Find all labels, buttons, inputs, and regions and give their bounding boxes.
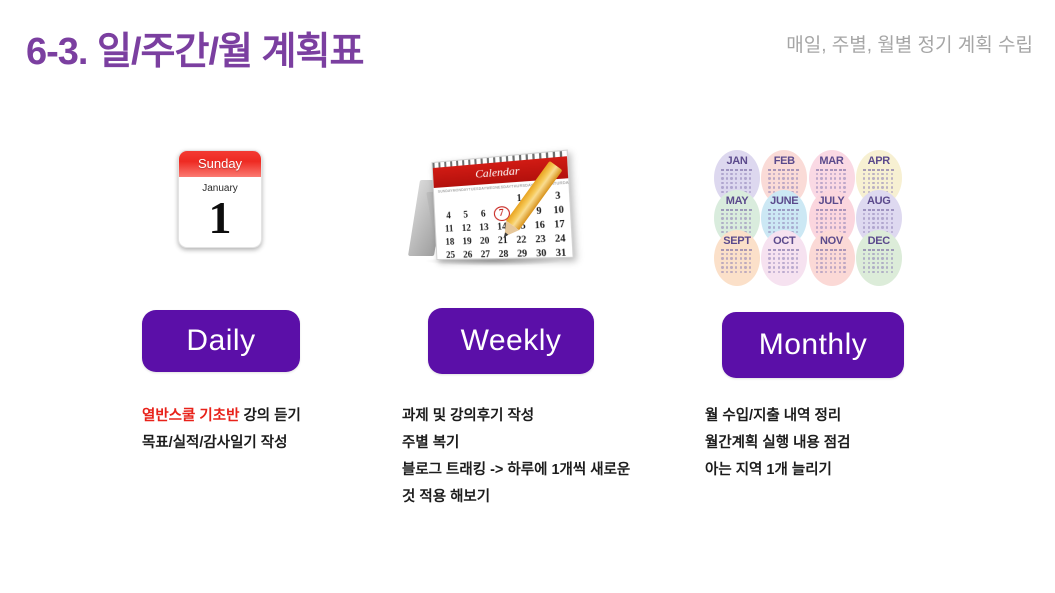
desk-calendar-date: 23: [531, 233, 551, 245]
desk-calendar-dow: WEDNESDAY: [486, 185, 511, 191]
month-circle-label: JUNE: [770, 195, 798, 207]
desk-calendar-date: 11: [440, 223, 458, 235]
monthly-task-list: 월 수입/지출 내역 정리 월간계획 실행 내용 점검 아는 지역 1개 늘리기: [705, 403, 851, 484]
month-circle-label: DEC: [868, 235, 890, 247]
month-circle-label: FEB: [774, 155, 795, 167]
month-circle-label: JULY: [819, 195, 845, 207]
desk-calendar-date: 17: [549, 218, 570, 231]
desk-calendar-date: 6: [474, 208, 492, 220]
month-circle-label: APR: [868, 155, 890, 167]
desk-calendar-date: 18: [441, 236, 459, 248]
desk-calendar-with-pencil-icon: Calendar SUNDAYMONDAYTUESDAYWEDNESDAYTHU…: [408, 152, 578, 272]
pill-monthly[interactable]: Monthly: [722, 312, 904, 378]
month-circle-dow-row: [863, 209, 895, 211]
desk-calendar-date-blank: [491, 193, 510, 206]
list-item: 것 적용 해보기: [402, 484, 630, 511]
column-weekly: Calendar SUNDAYMONDAYTUESDAYWEDNESDAYTHU…: [398, 150, 663, 280]
desk-calendar-date: 24: [550, 232, 571, 245]
desk-calendar-date: 29: [512, 248, 532, 260]
desk-calendar-date: 4: [440, 210, 457, 222]
plan-columns: Sunday January 1 Daily 열반스쿨 기초반 강의 듣기 목표…: [0, 150, 1055, 570]
column-daily: Sunday January 1 Daily 열반스쿨 기초반 강의 듣기 목표…: [110, 150, 340, 280]
desk-calendar-date: 16: [530, 219, 550, 232]
desk-calendar-date: 26: [459, 249, 477, 260]
monthly-icon-area: JANFEBMARAPRMAYJUNEJULYAUGSEPTOCTNOVDEC: [700, 150, 950, 280]
month-circle-dow-row: [721, 169, 753, 171]
daily-calendar-day-number: 1: [179, 195, 261, 241]
month-circle-dow-row: [863, 249, 895, 251]
list-item: 월 수입/지출 내역 정리: [705, 403, 851, 430]
list-item: 열반스쿨 기초반 강의 듣기: [142, 403, 301, 430]
month-circle-label: OCT: [773, 235, 795, 247]
desk-calendar-date: 10: [548, 204, 569, 217]
month-circle-dow-row: [768, 249, 800, 251]
month-circle-label: MAY: [726, 195, 749, 207]
list-item: 블로그 트래킹 -> 하루에 1개씩 새로운: [402, 457, 630, 484]
daily-calendar-weekday: Sunday: [179, 151, 261, 177]
desk-calendar-date: 19: [458, 236, 476, 248]
month-circle: DEC: [856, 230, 902, 286]
desk-calendar-date-blank: [473, 194, 491, 206]
desk-calendar-dow: MONDAY: [453, 188, 469, 193]
month-circle-label: JAN: [726, 155, 747, 167]
pill-weekly[interactable]: Weekly: [428, 308, 594, 374]
list-item: 과제 및 강의후기 작성: [402, 403, 630, 430]
column-monthly: JANFEBMARAPRMAYJUNEJULYAUGSEPTOCTNOVDEC …: [700, 150, 950, 280]
weekly-icon-area: Calendar SUNDAYMONDAYTUESDAYWEDNESDAYTHU…: [398, 150, 663, 280]
desk-calendar-date: 30: [531, 247, 551, 259]
desk-calendar-date-blank: [456, 195, 474, 207]
daily-line1-highlight: 열반스쿨 기초반: [142, 408, 239, 424]
month-circle-date-dots: [721, 253, 753, 275]
month-circle: NOV: [809, 230, 855, 286]
month-circle: OCT: [761, 230, 807, 286]
month-circle-date-dots: [863, 253, 895, 275]
weekly-task-list: 과제 및 강의후기 작성 주별 복기 블로그 트래킹 -> 하루에 1개씩 새로…: [402, 403, 630, 511]
month-circle-dow-row: [721, 249, 753, 251]
slide-header: 6-3. 일/주간/월 계획표 매일, 주별, 월별 정기 계획 수립: [0, 0, 1055, 90]
list-item: 아는 지역 1개 늘리기: [705, 457, 851, 484]
desk-calendar-date: 5: [457, 209, 475, 221]
month-circle-dow-row: [768, 209, 800, 211]
month-circle-dow-row: [816, 209, 848, 211]
daily-icon-area: Sunday January 1: [110, 150, 340, 280]
month-circle-dow-row: [863, 169, 895, 171]
month-circle-label: AUG: [867, 195, 891, 207]
pill-daily[interactable]: Daily: [142, 310, 300, 372]
month-circle-date-dots: [768, 253, 800, 275]
desk-calendar-date: 12: [457, 222, 475, 234]
list-item: 월간계획 실행 내용 점검: [705, 430, 851, 457]
month-circle-label: SEPT: [723, 235, 751, 247]
list-item: 주별 복기: [402, 430, 630, 457]
desk-calendar-dow: TUESDAY: [469, 186, 487, 191]
desk-calendar-date: 13: [475, 221, 493, 233]
daily-line1-rest: 강의 듣기: [239, 408, 300, 424]
month-circle: SEPT: [714, 230, 760, 286]
month-circle-dow-row: [721, 209, 753, 211]
desk-calendar-date: 31: [551, 247, 572, 259]
month-circle-dow-row: [816, 249, 848, 251]
twelve-month-circles-icon: JANFEBMARAPRMAYJUNEJULYAUGSEPTOCTNOVDEC: [714, 158, 902, 278]
desk-calendar-date-blank: [439, 197, 456, 209]
month-circle-date-dots: [816, 253, 848, 275]
page-title: 6-3. 일/주간/월 계획표: [26, 20, 363, 75]
desk-calendar-dow: SUNDAY: [438, 189, 453, 194]
desk-calendar-date: 25: [442, 249, 460, 260]
month-circle-label: MAR: [819, 155, 843, 167]
desk-calendar-date: 27: [476, 249, 495, 260]
month-circle-label: NOV: [820, 235, 843, 247]
desk-calendar-date: 28: [494, 248, 513, 260]
daily-task-list: 열반스쿨 기초반 강의 듣기 목표/실적/감사일기 작성: [142, 403, 301, 457]
desk-calendar-date: 3: [548, 189, 569, 202]
page-subtitle: 매일, 주별, 월별 정기 계획 수립: [786, 30, 1033, 57]
list-item: 목표/실적/감사일기 작성: [142, 430, 301, 457]
month-circle-dow-row: [816, 169, 848, 171]
day-page-calendar-icon: Sunday January 1: [178, 150, 262, 248]
desk-calendar-date: 20: [475, 235, 493, 247]
month-circle-dow-row: [768, 169, 800, 171]
